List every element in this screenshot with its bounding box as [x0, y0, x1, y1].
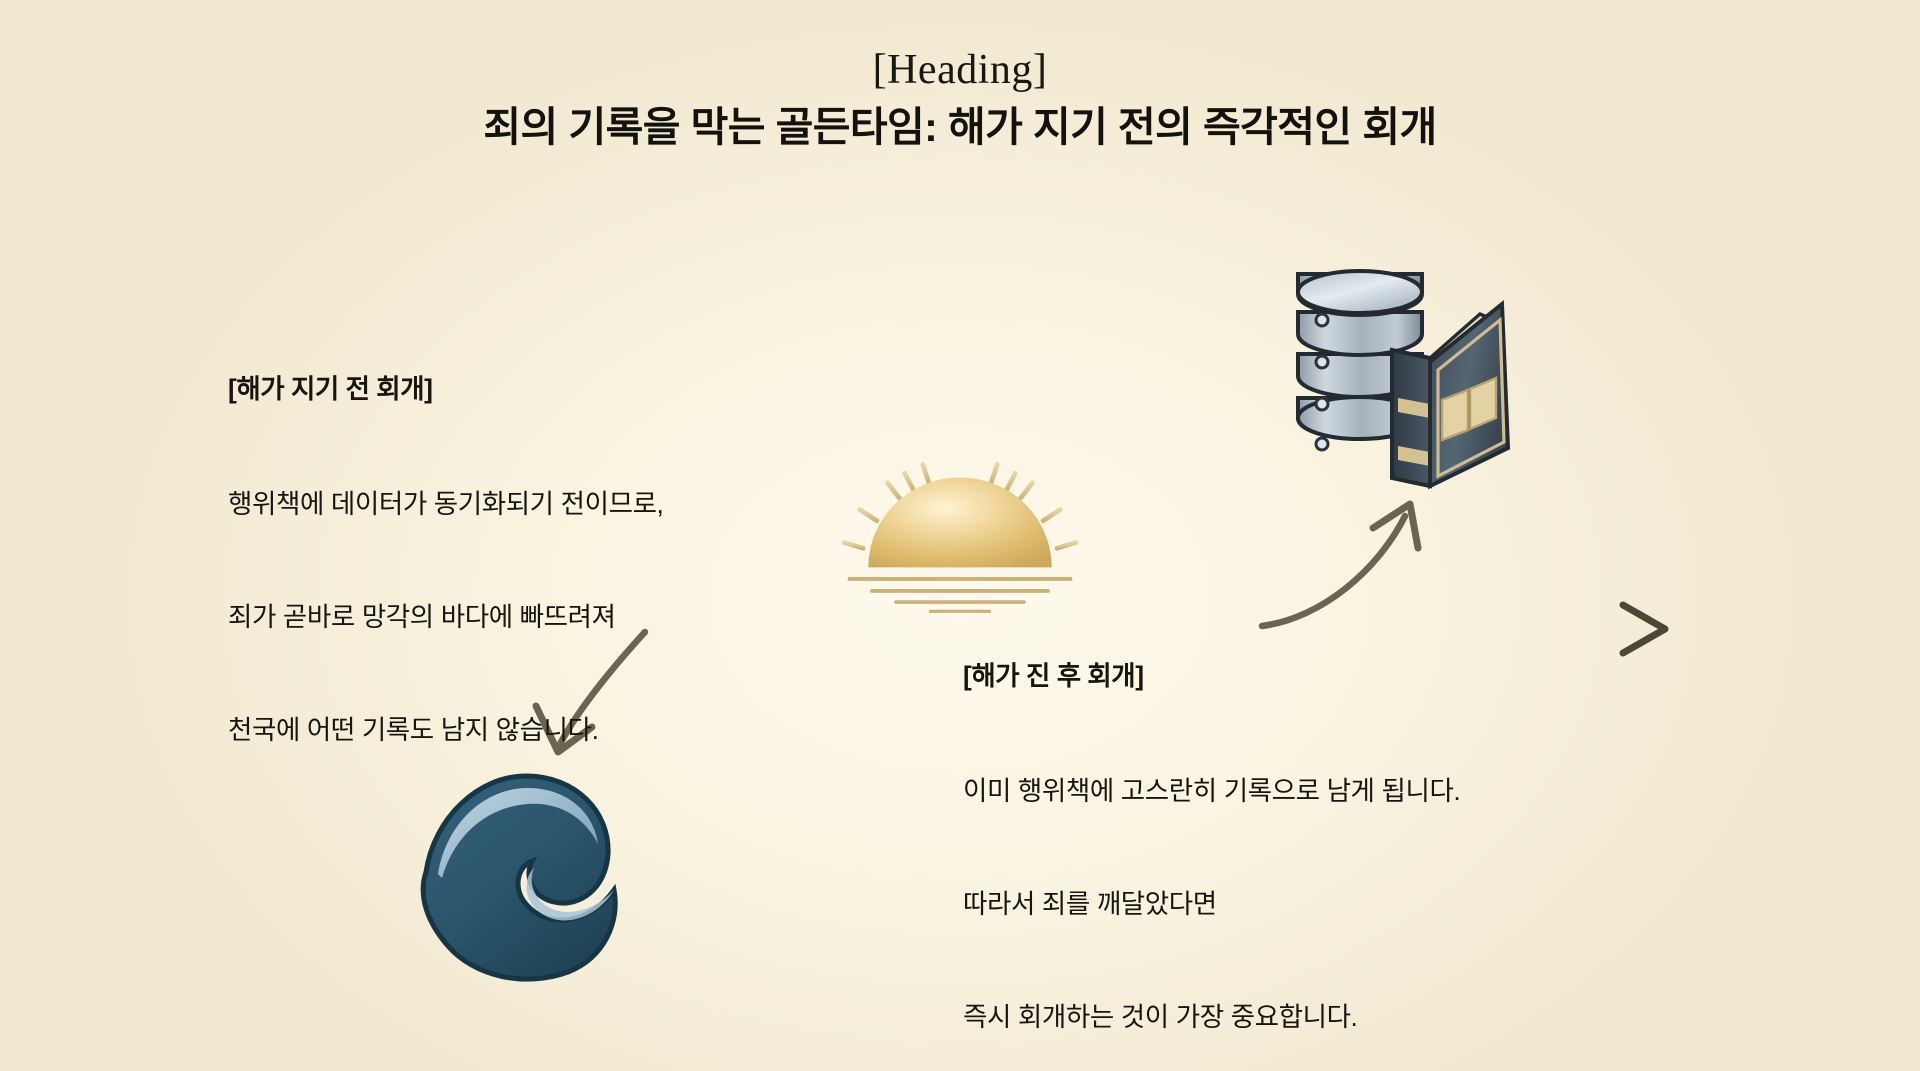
note-before-sunset-line-1: 행위책에 데이터가 동기화되기 전이므로, [228, 486, 664, 524]
note-after-sunset-heading: [해가 진 후 회개] [963, 658, 1460, 696]
note-after-sunset: [해가 진 후 회개] 이미 행위책에 고스란히 기록으로 남게 됩니다. 따라… [963, 583, 1460, 1071]
arrow-to-database-head [1373, 504, 1418, 548]
note-before-sunset-line-2: 죄가 곧바로 망각의 바다에 빠뜨려져 [228, 599, 664, 637]
note-before-sunset-line-3: 천국에 어떤 기록도 남지 않습니다. [228, 712, 664, 750]
timeline-arrowhead-right [1623, 605, 1665, 653]
infographic-canvas: [Heading] 죄의 기록을 막는 골든타임: 해가 지기 전의 즉각적인 … [0, 0, 1920, 1071]
note-after-sunset-line-2: 따라서 죄를 깨달았다면 [963, 886, 1460, 924]
page-title: 죄의 기록을 막는 골든타임: 해가 지기 전의 즉각적인 회개 [0, 105, 1920, 151]
note-before-sunset-heading: [해가 지기 전 회개] [228, 371, 664, 409]
database-book-icon [1280, 258, 1520, 493]
note-before-sunset: [해가 지기 전 회개] 행위책에 데이터가 동기화되기 전이므로, 죄가 곧바… [228, 296, 664, 825]
note-after-sunset-line-1: 이미 행위책에 고스란히 기록으로 남게 됩니다. [963, 773, 1460, 811]
heading-block: [Heading] 죄의 기록을 막는 골든타임: 해가 지기 전의 즉각적인 … [0, 48, 1920, 150]
note-after-sunset-line-3: 즉시 회개하는 것이 가장 중요합니다. [963, 999, 1460, 1037]
page-heading-tag: [Heading] [0, 48, 1920, 93]
